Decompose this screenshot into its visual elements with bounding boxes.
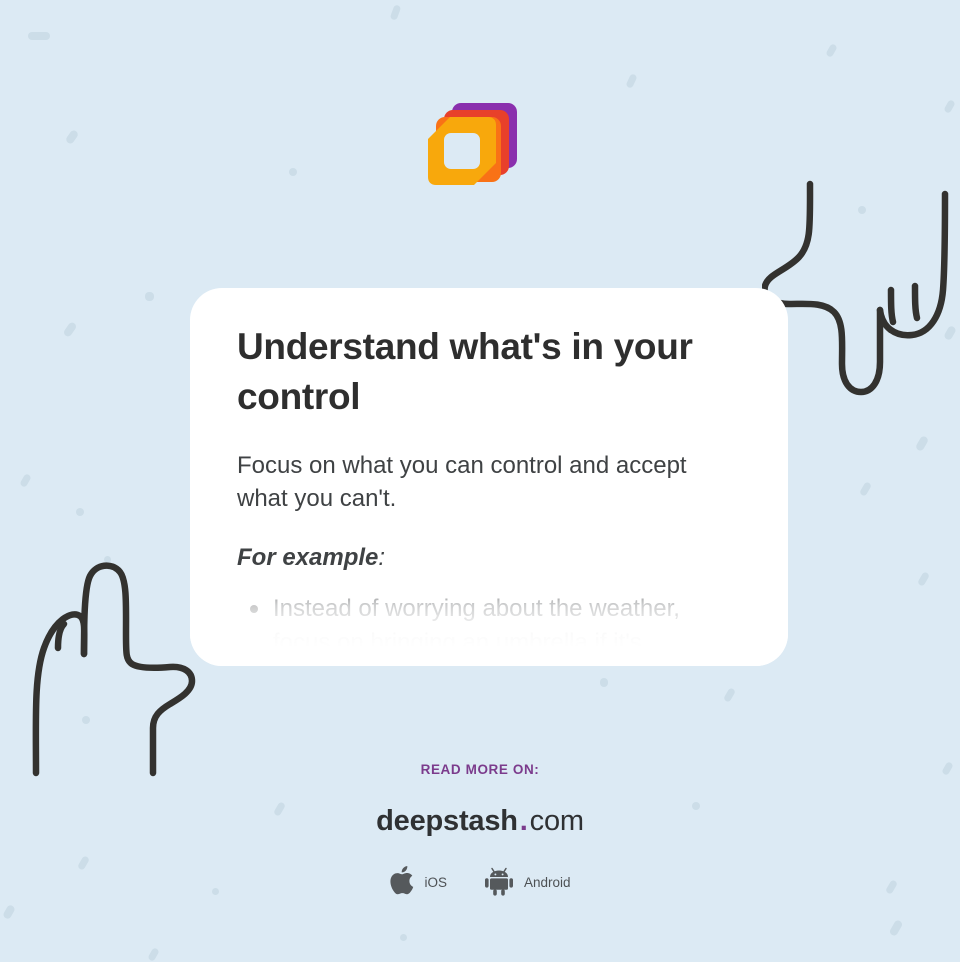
android-store-label: Android: [524, 875, 571, 890]
android-icon: [483, 864, 515, 901]
idea-card-content: Understand what's in your control Focus …: [190, 288, 788, 659]
confetti-speck: [145, 292, 154, 301]
confetti-speck: [625, 73, 637, 89]
confetti-speck: [825, 43, 838, 58]
card-example-colon: :: [378, 544, 385, 571]
store-badges: iOS Android: [0, 864, 960, 901]
confetti-speck: [65, 129, 80, 145]
confetti-speck: [62, 321, 77, 338]
wordmark-dot: .: [518, 805, 530, 837]
card-example-heading: For example:: [237, 541, 740, 574]
card-example-label: For example: [237, 544, 378, 571]
confetti-speck: [943, 325, 957, 341]
confetti-speck: [917, 571, 930, 587]
confetti-speck: [859, 481, 872, 497]
android-store-badge[interactable]: Android: [483, 864, 571, 901]
card-bullet-list: Instead of worrying about the weather, f…: [237, 592, 740, 658]
card-body-text: Focus on what you can control and accept…: [237, 449, 740, 515]
deepstash-logo: [425, 100, 525, 200]
apple-icon: [389, 864, 415, 901]
confetti-speck: [104, 556, 111, 563]
confetti-speck: [915, 435, 929, 452]
ios-store-badge[interactable]: iOS: [389, 864, 447, 901]
read-more-label: READ MORE ON:: [0, 762, 960, 777]
confetti-speck: [600, 678, 608, 687]
confetti-speck: [943, 99, 956, 114]
confetti-speck: [2, 904, 16, 920]
wordmark-name: deepstash: [376, 805, 518, 837]
confetti-speck: [19, 473, 32, 488]
ios-store-label: iOS: [424, 875, 447, 890]
idea-card[interactable]: Understand what's in your control Focus …: [190, 288, 788, 666]
confetti-speck: [889, 919, 904, 937]
confetti-speck: [28, 32, 50, 40]
confetti-speck: [76, 508, 84, 516]
list-item: Instead of worrying about the weather, f…: [273, 592, 740, 658]
confetti-speck: [723, 687, 736, 703]
footer: READ MORE ON: deepstash.com iOS: [0, 762, 960, 901]
confetti-speck: [289, 168, 297, 176]
confetti-speck: [858, 206, 866, 214]
card-title: Understand what's in your control: [237, 322, 740, 421]
hand-pointing-up-illustration: [18, 558, 208, 788]
confetti-speck: [82, 716, 90, 724]
confetti-speck: [400, 934, 407, 941]
confetti-speck: [390, 4, 402, 20]
deepstash-wordmark[interactable]: deepstash.com: [0, 805, 960, 838]
hand-pointing-down-illustration: [762, 172, 952, 402]
wordmark-tld: com: [530, 805, 584, 837]
